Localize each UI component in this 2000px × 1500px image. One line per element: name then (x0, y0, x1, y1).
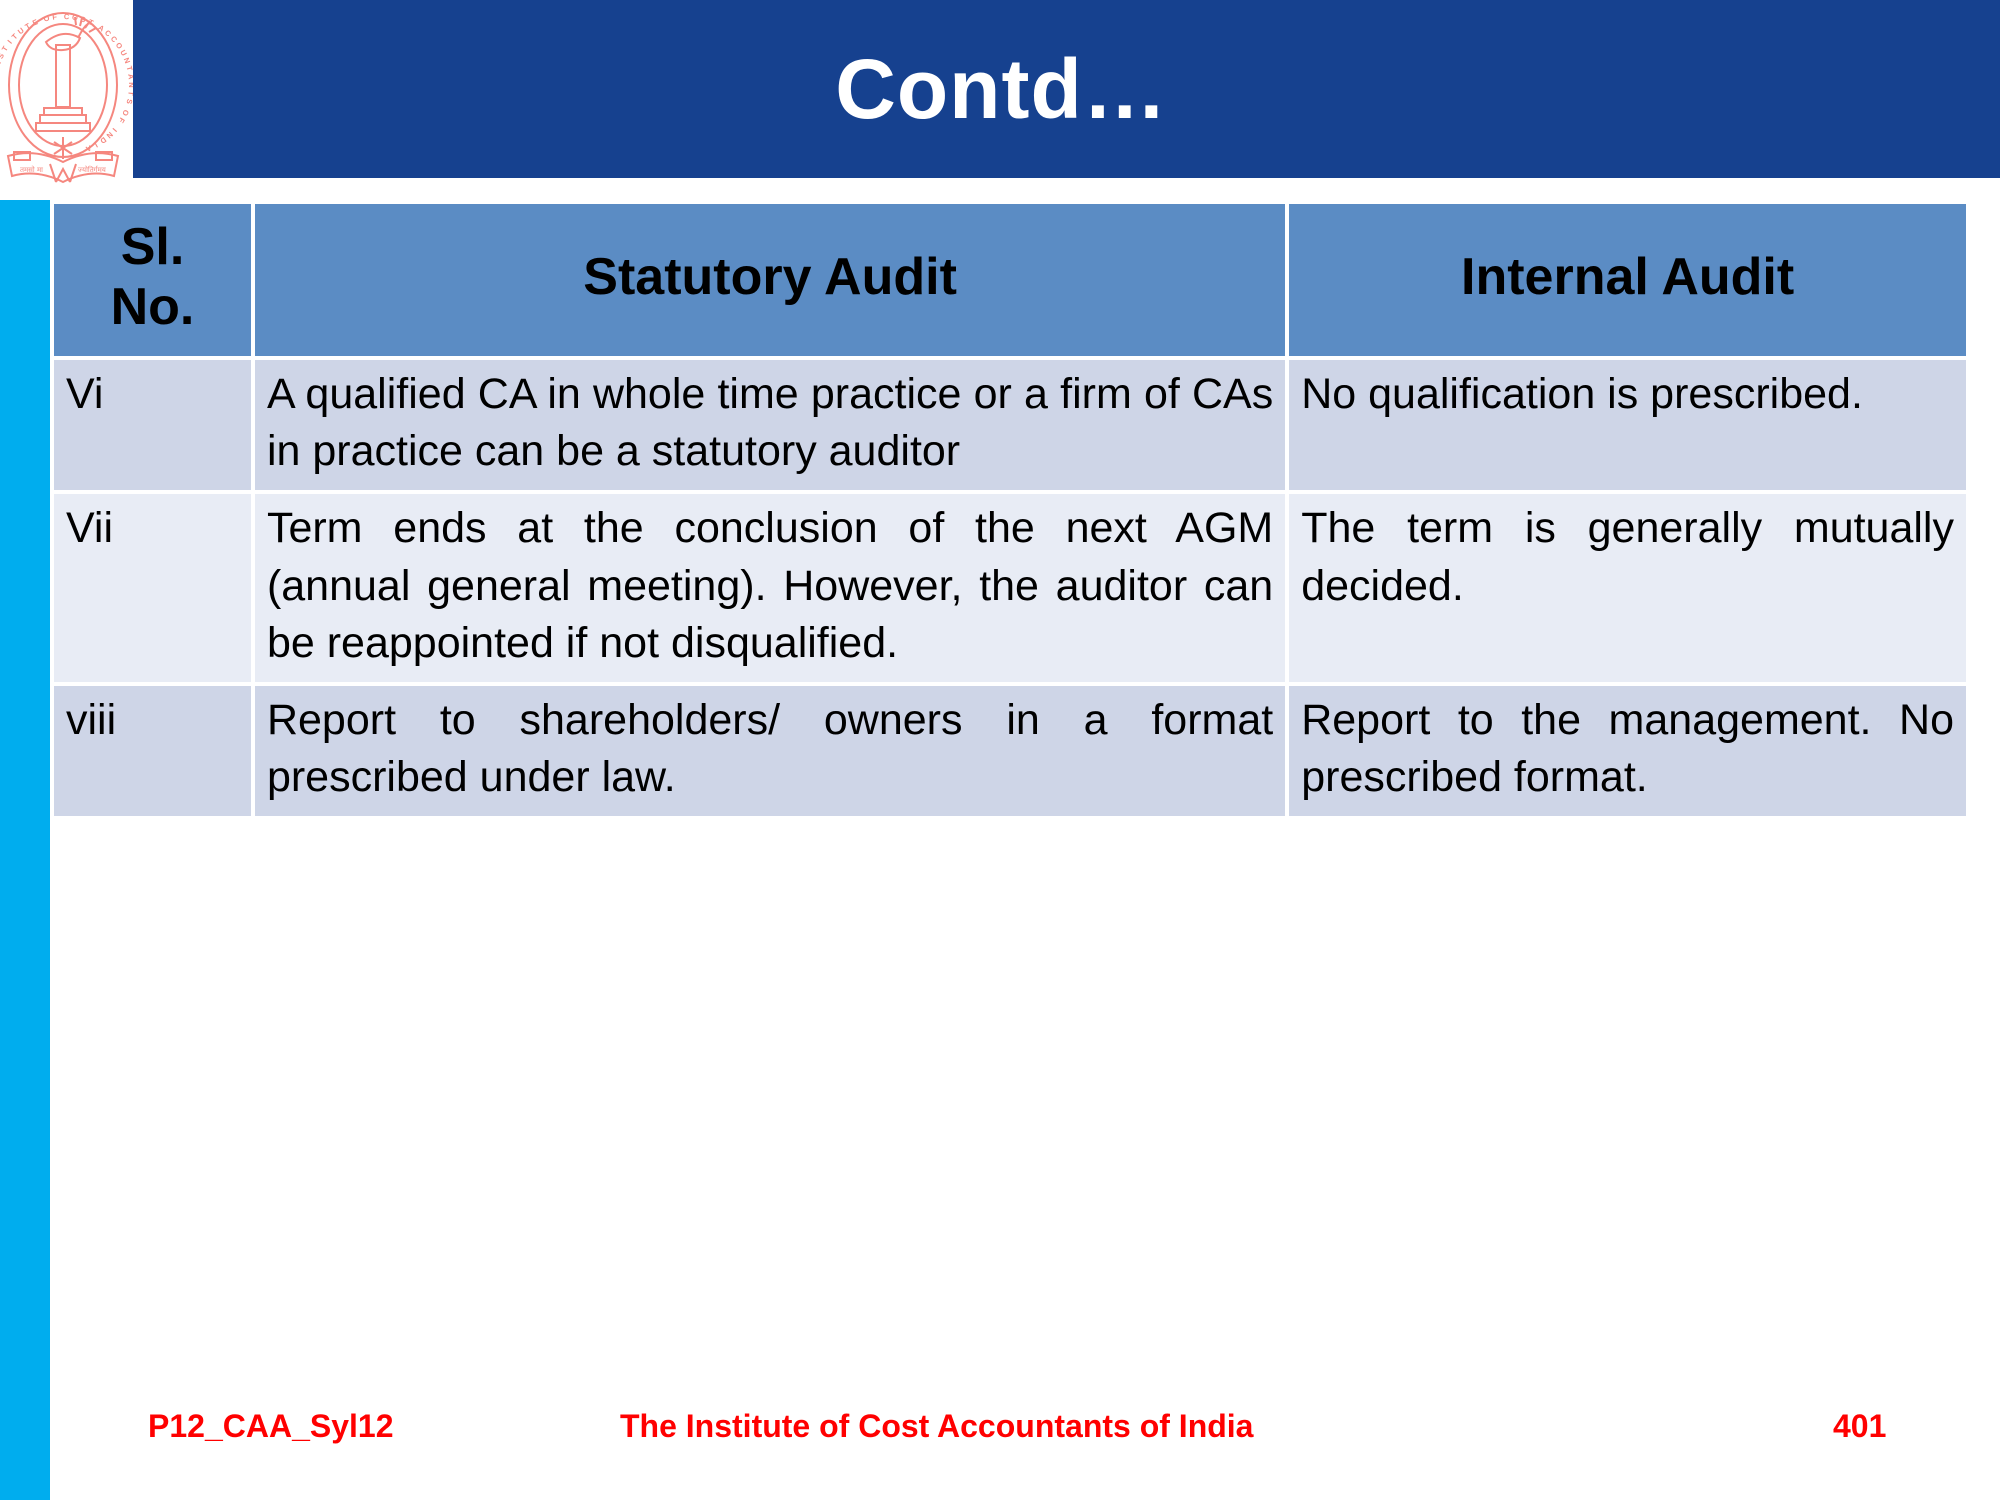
table-row: Vii Term ends at the conclusion of the n… (54, 494, 1966, 682)
slide-title-bar: Contd… (133, 0, 2000, 178)
svg-text:T: T (0, 98, 1, 105)
svg-text:O: O (71, 13, 78, 23)
footer-page-number: 401 (1833, 1408, 1886, 1445)
cell-sl-no: Vii (54, 494, 251, 682)
svg-text:A: A (84, 143, 93, 154)
footer-subject-code: P12_CAA_Syl12 (148, 1408, 393, 1445)
comparison-table: Sl.No. Statutory Audit Internal Audit Vi… (50, 200, 1970, 820)
institute-logo: तमसो मा ज्योतिर्गमय T H E I N S T I T U … (0, 0, 133, 190)
svg-text:I: I (6, 38, 14, 45)
table-row: Vi A qualified CA in whole time practice… (54, 360, 1966, 490)
cell-sl-no: viii (54, 686, 251, 816)
page-title: Contd… (835, 47, 1168, 131)
cell-statutory-audit: Term ends at the conclusion of the next … (255, 494, 1285, 682)
footer-organisation: The Institute of Cost Accountants of Ind… (620, 1408, 1253, 1445)
svg-text:तमसो मा: तमसो मा (20, 165, 43, 174)
svg-text:S: S (124, 98, 133, 105)
column-header-sl-no: Sl.No. (54, 204, 251, 356)
column-header-internal-audit: Internal Audit (1289, 204, 1966, 356)
svg-text:F: F (116, 116, 126, 125)
svg-text:N: N (122, 56, 132, 64)
svg-text:A: A (126, 73, 133, 80)
svg-text:N: N (0, 60, 3, 68)
table-header-row: Sl.No. Statutory Audit Internal Audit (54, 204, 1966, 356)
svg-text:ज्योतिर्गमय: ज्योतिर्गमय (78, 165, 107, 174)
cell-sl-no: Vi (54, 360, 251, 490)
emblem-icon: तमसो मा ज्योतिर्गमय T H E I N S T I T U … (0, 0, 133, 190)
cell-internal-audit: Report to the management. No prescribed … (1289, 686, 1966, 816)
svg-text:T: T (126, 91, 133, 97)
cell-internal-audit: The term is generally mutually decided. (1289, 494, 1966, 682)
svg-text:C: C (64, 12, 70, 21)
svg-text:T: T (125, 65, 133, 72)
column-header-statutory-audit: Statutory Audit (255, 204, 1285, 356)
svg-text:S: S (0, 52, 6, 60)
cell-statutory-audit: A qualified CA in whole time practice or… (255, 360, 1285, 490)
left-accent-bar (0, 200, 50, 1500)
svg-text:U: U (118, 48, 128, 57)
svg-text:T: T (0, 44, 10, 53)
cell-statutory-audit: Report to shareholders/ owners in a form… (255, 686, 1285, 816)
slide-footer: P12_CAA_Syl12 The Institute of Cost Acco… (0, 1408, 2000, 1464)
svg-text:O: O (120, 108, 131, 117)
cell-internal-audit: No qualification is prescribed. (1289, 360, 1966, 490)
table-row: viii Report to shareholders/ owners in a… (54, 686, 1966, 816)
svg-text:I: I (0, 69, 1, 73)
